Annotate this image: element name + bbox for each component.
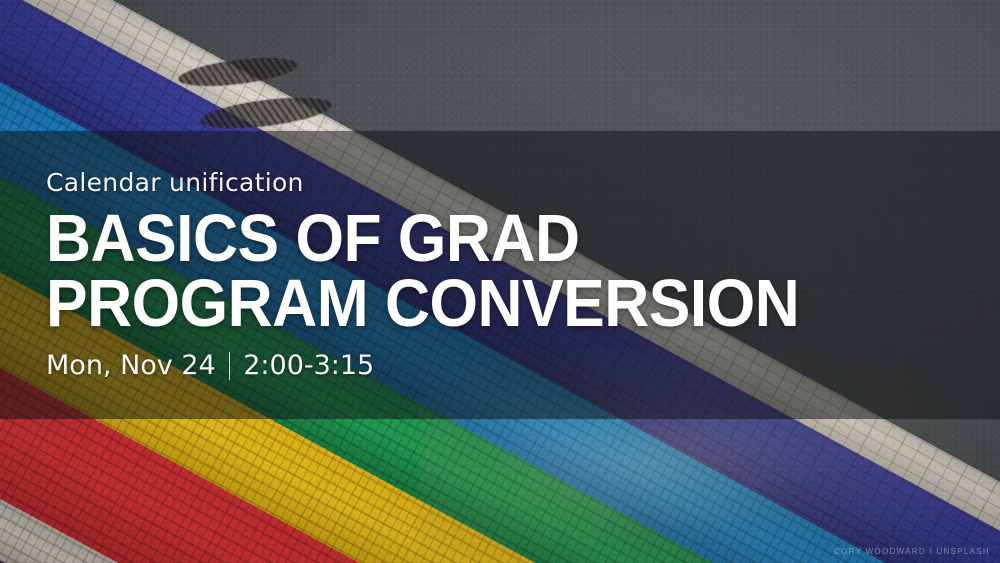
- event-datetime: Mon, Nov 24 2:00-3:15: [46, 350, 966, 381]
- datetime-separator-icon: [229, 352, 231, 380]
- event-time: 2:00-3:15: [243, 350, 374, 381]
- kicker-label: Calendar unification: [46, 169, 966, 197]
- page-title: Basics of grad program conversion: [46, 206, 902, 336]
- slide-text-block: Calendar unification Basics of grad prog…: [46, 131, 966, 419]
- event-title-slide: Calendar unification Basics of grad prog…: [0, 0, 1000, 563]
- event-date: Mon, Nov 24: [46, 350, 216, 381]
- photo-credit-watermark: CORY WOODWARD / UNSPLASH: [834, 547, 990, 556]
